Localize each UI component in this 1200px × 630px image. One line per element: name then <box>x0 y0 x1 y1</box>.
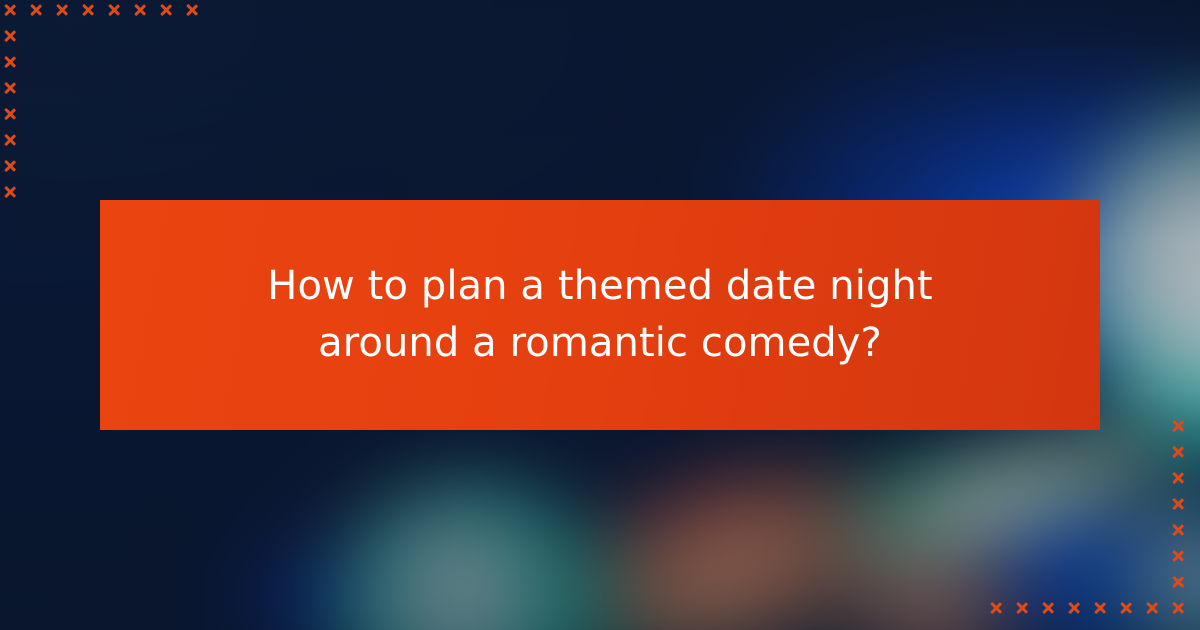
headline-banner: How to plan a themed date night around a… <box>100 200 1100 430</box>
headline-title: How to plan a themed date night around a… <box>230 258 970 372</box>
social-share-card: How to plan a themed date night around a… <box>0 0 1200 630</box>
